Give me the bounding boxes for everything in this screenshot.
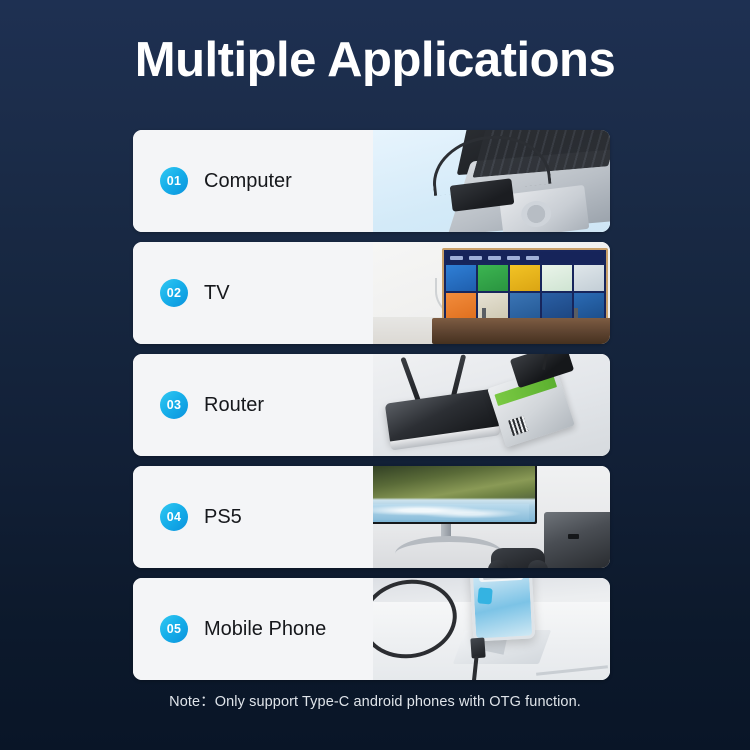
card-label: Computer	[204, 170, 292, 193]
tv-leg	[482, 308, 486, 318]
card-label: TV	[204, 282, 230, 305]
card-number-badge: 04	[160, 503, 188, 531]
monitor-wallpaper	[373, 466, 535, 522]
monitor	[373, 466, 537, 524]
card-number-badge: 02	[160, 279, 188, 307]
ps5-console	[544, 512, 610, 568]
card-label: PS5	[204, 506, 242, 529]
router-body	[385, 389, 499, 444]
tv-stand	[432, 318, 610, 344]
application-card[interactable]: 05 Mobile Phone	[133, 578, 610, 680]
application-card[interactable]: 01 Computer	[133, 130, 610, 232]
game-controller	[491, 548, 545, 568]
card-photo-router	[373, 354, 610, 456]
card-photo-mobile-phone	[373, 578, 610, 680]
card-number-badge: 05	[160, 615, 188, 643]
tv-menu-bar	[446, 252, 604, 263]
tv-screen	[444, 250, 606, 320]
application-card-list: 01 Computer 02 TV	[133, 130, 610, 680]
card-label: Mobile Phone	[204, 618, 326, 641]
application-card[interactable]: 02 TV	[133, 242, 610, 344]
qr-code	[508, 416, 528, 436]
card-text-area: 01 Computer	[133, 130, 373, 232]
card-photo-ps5	[373, 466, 610, 568]
page-title: Multiple Applications	[0, 36, 750, 85]
application-card[interactable]: 03 Router	[133, 354, 610, 456]
monitor-base	[395, 536, 503, 554]
card-text-area: 05 Mobile Phone	[133, 578, 373, 680]
smartphone	[469, 578, 536, 642]
tv-tile-row	[446, 265, 604, 291]
card-text-area: 04 PS5	[133, 466, 373, 568]
card-text-area: 03 Router	[133, 354, 373, 456]
footer-note: Note：Only support Type-C android phones …	[0, 690, 750, 711]
card-number-badge: 01	[160, 167, 188, 195]
card-number-badge: 03	[160, 391, 188, 419]
application-card[interactable]: 04 PS5	[133, 466, 610, 568]
chat-bubble-group	[478, 578, 523, 582]
screen-accent	[477, 587, 492, 604]
card-photo-computer	[373, 130, 610, 232]
card-text-area: 02 TV	[133, 242, 373, 344]
tv-tile-row	[446, 293, 604, 319]
card-label: Router	[204, 394, 264, 417]
tv-leg	[574, 308, 578, 318]
tv-frame	[442, 248, 608, 322]
card-photo-tv	[373, 242, 610, 344]
